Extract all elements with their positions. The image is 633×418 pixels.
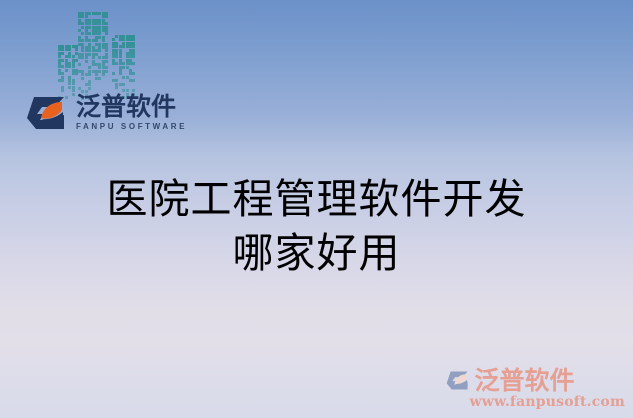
watermark-brand-row: 泛普软件 (445, 368, 574, 393)
brand-name-en: FANPU SOFTWARE (76, 122, 187, 132)
brand-logo: 泛普软件 FANPU SOFTWARE (24, 93, 187, 133)
brand-name-cn: 泛普软件 (76, 94, 187, 120)
slide-canvas: 泛普软件 FANPU SOFTWARE 医院工程管理软件开发 哪家好用 泛普软件… (0, 0, 633, 418)
page-title: 医院工程管理软件开发 哪家好用 (0, 172, 633, 280)
brand-wordmark: 泛普软件 FANPU SOFTWARE (76, 94, 187, 132)
watermark-brand-name: 泛普软件 (474, 368, 574, 393)
page-title-line-1: 医院工程管理软件开发 (0, 172, 633, 226)
watermark-logo-mark-icon (445, 369, 471, 392)
watermark-url: www.fanpusoft.com (469, 394, 625, 410)
page-title-line-2: 哪家好用 (0, 226, 633, 280)
watermark: 泛普软件 www.fanpusoft.com (445, 368, 625, 410)
dot-matrix-skyline-decoration (55, 5, 145, 100)
fanpu-logo-mark-icon (24, 93, 70, 133)
